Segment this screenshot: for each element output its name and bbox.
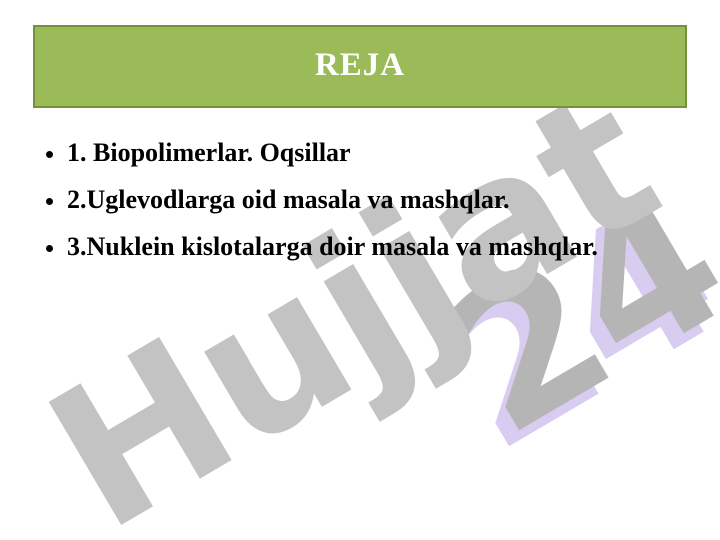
page-title: REJA (315, 49, 405, 82)
list-item: 3.Nuklein kislotalarga doir masala va ma… (33, 224, 689, 269)
list-item: 1. Biopolimerlar. Oqsillar (33, 130, 689, 175)
list-item: 2.Uglevodlarga oid masala va mashqlar. (33, 177, 689, 222)
list-item-text: 1. Biopolimerlar. Oqsillar (67, 138, 351, 167)
list-item-text: 3.Nuklein kislotalarga doir masala va ma… (67, 232, 598, 261)
slide-canvas: 24 24 Hujjat REJA 1. Biopolimerlar. Oqsi… (0, 0, 720, 540)
list-item-text: 2.Uglevodlarga oid masala va mashqlar. (67, 185, 510, 214)
outline-list: 1. Biopolimerlar. Oqsillar 2.Uglevodlarg… (33, 130, 689, 271)
title-bar: REJA (33, 25, 687, 108)
